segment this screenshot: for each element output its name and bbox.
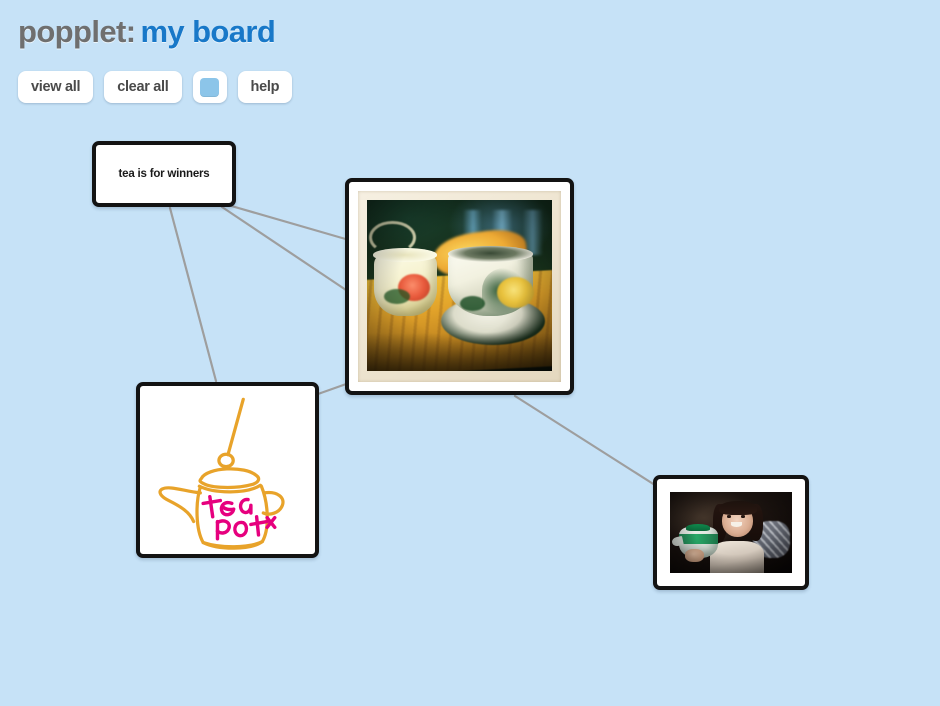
popplet-photo-teacups[interactable]: [345, 178, 574, 395]
teapot-drawing: [140, 386, 315, 554]
connector-text-to-teapot: [170, 208, 216, 381]
popplet-drawing-teapot[interactable]: [136, 382, 319, 558]
teacups-photo: [367, 200, 552, 371]
popplet-text-content: tea is for winners: [119, 168, 210, 180]
girl-photo-content: [670, 492, 792, 573]
popplet-photo-girl[interactable]: [653, 475, 809, 590]
board-canvas[interactable]: tea is for winners: [0, 0, 940, 706]
connector-teacups-to-girl: [515, 396, 658, 487]
vintage-photo-frame: [358, 191, 561, 382]
connector-text-to-teacups-lower: [222, 207, 349, 292]
connector-text-to-teacups-upper: [228, 205, 349, 240]
plain-photo-frame: [664, 486, 798, 579]
teacups-photo-content: [367, 200, 552, 371]
girl-photo: [670, 492, 792, 573]
popplet-text[interactable]: tea is for winners: [92, 141, 236, 207]
